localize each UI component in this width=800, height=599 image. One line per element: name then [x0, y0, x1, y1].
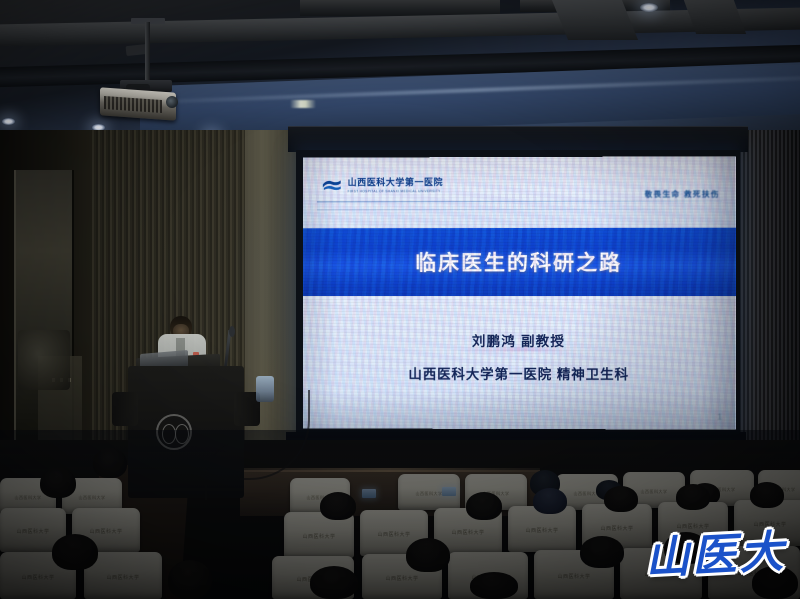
hospital-logo-text: 山西医科大学第一医院 FIRST HOSPITAL OF SHANXI MEDI… [348, 175, 443, 193]
lectern-left-wing [112, 392, 138, 426]
audience-head [676, 484, 710, 510]
audience-head [580, 536, 624, 568]
doorway-object [18, 330, 70, 390]
seat-label: 山西医科大学 [62, 495, 122, 501]
hospital-logo-icon [321, 177, 343, 191]
seat-label: 山西医科大学 [362, 575, 442, 582]
audience-head [470, 572, 518, 599]
hospital-logo-cn: 山西医科大学第一医院 [348, 175, 443, 188]
slide-title: 临床医生的科研之路 [303, 228, 736, 296]
seat-label: 山西医科大学 [508, 527, 576, 534]
watermark: 山医大 [643, 515, 787, 586]
audience-head [604, 486, 638, 512]
ceiling-downlight [2, 118, 15, 125]
seat-label: 山西医科大学 [534, 573, 614, 580]
ceiling-downlight [640, 3, 658, 12]
seat-label: 山西医科大学 [434, 529, 502, 536]
projector-mount-rod [145, 22, 150, 84]
side-doorway [14, 170, 74, 440]
audience-laptop-screen [442, 487, 456, 496]
ceiling-strip-light [290, 100, 316, 108]
seat-label: 山西医科大学 [0, 528, 66, 535]
audience-head [168, 560, 212, 599]
presenter-name: 刘鹏鸿 副教授 [303, 330, 736, 350]
audience-head [93, 448, 127, 478]
slide-motto: 敬畏生命 救死扶伤 [645, 189, 720, 200]
presenter-affiliation: 山西医科大学第一医院 精神卫生科 [303, 363, 736, 384]
slide-title-band: 临床医生的科研之路 [303, 228, 736, 296]
university-emblem-icon [156, 414, 192, 450]
seat-label: 山西医科大学 [84, 574, 162, 581]
audience-head [750, 482, 784, 508]
projection-screen: 临床医生的科研之路 山西医科大学第一医院 FIRST HOSPITAL OF S… [303, 156, 736, 429]
audience-head [466, 492, 502, 520]
slide-logo-block: 山西医科大学第一医院 FIRST HOSPITAL OF SHANXI MEDI… [321, 175, 443, 193]
audience-laptop-screen [362, 489, 376, 498]
seat-label: 山西医科大学 [0, 574, 76, 581]
projector-lens-icon [166, 96, 178, 108]
hospital-logo-en: FIRST HOSPITAL OF SHANXI MEDICAL UNIVERS… [348, 189, 443, 193]
ceiling [0, 0, 800, 146]
screen-housing [288, 126, 748, 152]
audience-head [533, 488, 567, 514]
audience-head [320, 492, 356, 520]
audience-head [52, 534, 98, 570]
seat-label: 山西医科大学 [582, 525, 652, 532]
microphone-icon [229, 326, 235, 337]
seat-label: 山西医科大学 [360, 531, 428, 538]
lecture-hall-photo: 临床医生的科研之路 山西医科大学第一医院 FIRST HOSPITAL OF S… [0, 0, 800, 599]
slide-presenter-block: 刘鹏鸿 副教授 山西医科大学第一医院 精神卫生科 [303, 330, 736, 384]
audience-head [40, 468, 76, 498]
seat-label: 山西医科大学 [284, 533, 354, 540]
audience-head [406, 538, 450, 572]
audience-head [310, 566, 358, 599]
